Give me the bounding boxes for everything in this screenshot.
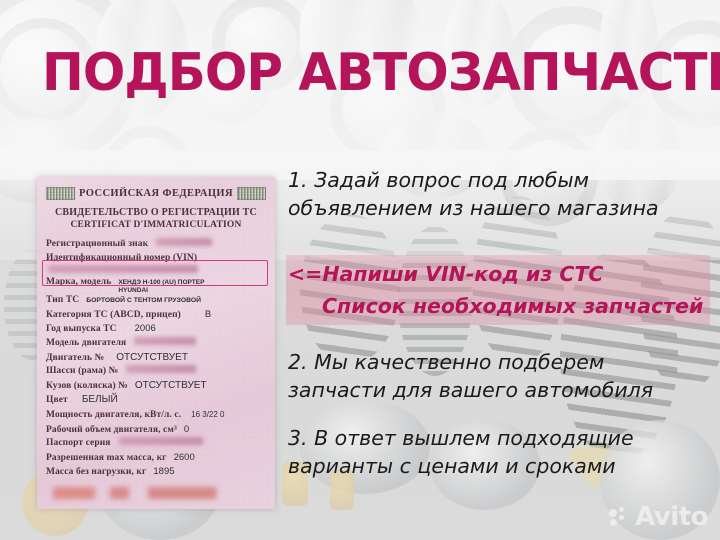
page-title: ПОДБОР АВТОЗАПЧАСТЕЙ <box>42 44 676 102</box>
doc-field-label: Масса без нагрузки, кг <box>46 466 146 480</box>
redacted-value <box>119 437 203 445</box>
doc-field-label: Двигатель № <box>46 352 104 366</box>
guilloche-ornament-left <box>46 187 75 200</box>
doc-field-value: 16 3/22 0 <box>191 408 224 422</box>
avito-wordmark: Avito <box>635 504 708 530</box>
doc-row-reg-plate: Регистрационный знак <box>46 238 266 252</box>
vin-callout-line-2: Список необходимых запчастей <box>288 290 712 322</box>
doc-field-label: Рабочий объем двигателя, см³ <box>46 424 177 438</box>
doc-row-engine-no: Двигатель № ОТСУТСТВУЕТ <box>46 351 266 366</box>
doc-row-body: Кузов (коляска) № ОТСУТСТВУЕТ <box>46 379 266 394</box>
step-3-text: 3. В ответ вышлем подходящие варианты с … <box>288 424 708 480</box>
doc-row-type: Тип ТС БОРТОВОЙ С ТЕНТОМ ГРУЗОВОЙ <box>46 294 266 308</box>
doc-field-label: Тип ТС <box>46 294 79 308</box>
doc-field-value: 2600 <box>174 451 195 465</box>
doc-row-power: Мощность двигателя, кВт/л. с. 16 3/22 0 <box>46 408 266 423</box>
doc-title-ru: СВИДЕТЕЛЬСТВО О РЕГИСТРАЦИИ ТС <box>46 207 266 218</box>
doc-row-passport: Паспорт серия <box>46 437 266 451</box>
doc-field-value: ОТСУТСТВУЕТ <box>116 351 188 365</box>
slide-canvas: ПОДБОР АВТОЗАПЧАСТЕЙ 1. Задай вопрос под… <box>0 0 720 540</box>
doc-row-category: Категория ТС (ABCD, прицеп) B <box>46 308 266 323</box>
doc-field-value: БЕЛЫЙ <box>82 393 118 407</box>
doc-field-label: Мощность двигателя, кВт/л. с. <box>46 409 181 423</box>
doc-field-value: ОТСУТСТВУЕТ <box>135 379 207 393</box>
doc-field-value: B <box>205 308 211 322</box>
redacted-value <box>156 238 212 246</box>
doc-row-color: Цвет БЕЛЫЙ <box>46 393 266 408</box>
doc-field-label: Цвет <box>46 394 68 408</box>
step-1-text: 1. Задай вопрос под любым объявлением из… <box>288 166 708 222</box>
doc-field-label: Паспорт серия <box>46 437 111 451</box>
doc-field-label: Категория ТС (ABCD, прицеп) <box>46 309 181 323</box>
step-2-text: 2. Мы качественно подберем запчасти для … <box>288 348 708 404</box>
doc-row-engine-model: Модель двигателя <box>46 337 266 351</box>
doc-field-label: Кузов (коляска) № <box>46 380 128 394</box>
doc-field-value: 0 <box>184 423 189 437</box>
guilloche-ornament-right <box>237 187 266 200</box>
doc-row-displacement: Рабочий объем двигателя, см³ 0 <box>46 423 266 438</box>
avito-dots-icon <box>609 507 629 527</box>
doc-field-label: Регистрационный знак <box>46 238 148 252</box>
doc-field-value: БОРТОВОЙ С ТЕНТОМ ГРУЗОВОЙ <box>86 294 201 308</box>
doc-row-curb-mass: Масса без нагрузки, кг 1895 <box>46 465 266 480</box>
doc-country-label: РОССИЙСКАЯ ФЕДЕРАЦИЯ <box>79 188 233 199</box>
doc-field-label: Год выпуска ТС <box>46 323 117 337</box>
redacted-value <box>134 337 196 345</box>
doc-title-fr: CERTIFICAT D'IMMATRICULATION <box>46 220 266 230</box>
doc-field-value: 2006 <box>135 322 156 336</box>
vin-field-highlight-box <box>42 260 268 286</box>
doc-field-value: 1895 <box>153 465 174 479</box>
vin-callout-line-1: <=Напиши VIN-код из СТС <box>288 262 603 286</box>
redacted-value <box>126 365 196 373</box>
vin-callout: <=Напиши VIN-код из СТС Список необходим… <box>288 258 712 322</box>
doc-field-label: Модель двигателя <box>46 337 126 351</box>
doc-country-line: РОССИЙСКАЯ ФЕДЕРАЦИЯ <box>46 187 266 200</box>
doc-field-label: Разрешенная max масса, кг <box>46 452 167 466</box>
avito-watermark: Avito <box>609 504 708 530</box>
doc-footer-redacted <box>53 487 243 499</box>
doc-row-year: Год выпуска ТС 2006 <box>46 322 266 337</box>
vehicle-registration-certificate: РОССИЙСКАЯ ФЕДЕРАЦИЯ СВИДЕТЕЛЬСТВО О РЕГ… <box>37 177 275 509</box>
doc-field-label: Шасси (рама) № <box>46 365 118 379</box>
doc-row-max-mass: Разрешенная max масса, кг 2600 <box>46 451 266 466</box>
doc-row-chassis: Шасси (рама) № <box>46 365 266 379</box>
